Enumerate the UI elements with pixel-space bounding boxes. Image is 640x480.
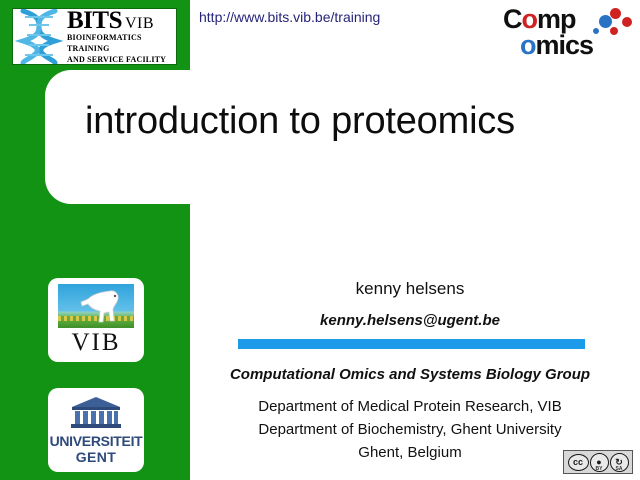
cc-sa-label: SA bbox=[616, 466, 623, 472]
vib-landscape-art bbox=[58, 284, 134, 328]
bits-wordmark: BITS VIB Bioinformatics Training and Ser… bbox=[65, 9, 176, 64]
dna-helix-icon bbox=[13, 9, 65, 64]
author-email[interactable]: kenny.helsens@ugent.be bbox=[210, 312, 610, 329]
molecule-dots-icon bbox=[590, 8, 632, 38]
bits-subtitle-line2: and Service Facility bbox=[67, 55, 172, 66]
affiliation-line-2: Department of Biochemistry, Ghent Univer… bbox=[205, 421, 615, 438]
ugent-line-1: UNIVERSITEIT bbox=[48, 434, 144, 448]
presentation-slide: introduction to proteomics BITS VIB Bioi… bbox=[0, 0, 640, 480]
affiliation-line-3: Ghent, Belgium bbox=[205, 444, 615, 461]
research-group-name: Computational Omics and Systems Biology … bbox=[205, 366, 615, 383]
creative-commons-badge[interactable]: cc ● BY ↻ SA bbox=[563, 450, 633, 474]
title-card: introduction to proteomics bbox=[45, 70, 640, 204]
blue-divider-bar bbox=[238, 339, 585, 349]
cc-label: cc bbox=[573, 457, 583, 467]
ugent-logo-card: UNIVERSITEIT GENT bbox=[48, 388, 144, 472]
cc-logo-icon: cc bbox=[568, 454, 589, 471]
compomics-mics: mics bbox=[536, 30, 594, 60]
page-title: introduction to proteomics bbox=[85, 100, 515, 143]
compomics-o-blue: o bbox=[520, 30, 536, 60]
ugent-line-2: GENT bbox=[48, 450, 144, 464]
bits-name: BITS bbox=[67, 8, 122, 33]
affiliation-line-1: Department of Medical Protein Research, … bbox=[205, 398, 615, 415]
vib-logo-card: VIB bbox=[48, 278, 144, 362]
cc-sa-icon: ↻ SA bbox=[610, 453, 629, 472]
bits-suffix: VIB bbox=[125, 16, 154, 32]
bits-logo: BITS VIB Bioinformatics Training and Ser… bbox=[12, 8, 177, 65]
compomics-c: C bbox=[503, 4, 522, 34]
author-name: kenny helsens bbox=[210, 279, 610, 299]
university-building-icon bbox=[70, 396, 122, 430]
compomics-logo: Comp omics bbox=[503, 6, 634, 64]
vib-wordmark: VIB bbox=[48, 330, 144, 355]
cc-by-label: BY bbox=[596, 466, 603, 472]
bits-subtitle-line1: Bioinformatics Training bbox=[67, 33, 172, 55]
training-url-link[interactable]: http://www.bits.vib.be/training bbox=[199, 9, 380, 25]
cc-by-icon: ● BY bbox=[590, 453, 609, 472]
vib-cow-icon bbox=[80, 287, 124, 325]
